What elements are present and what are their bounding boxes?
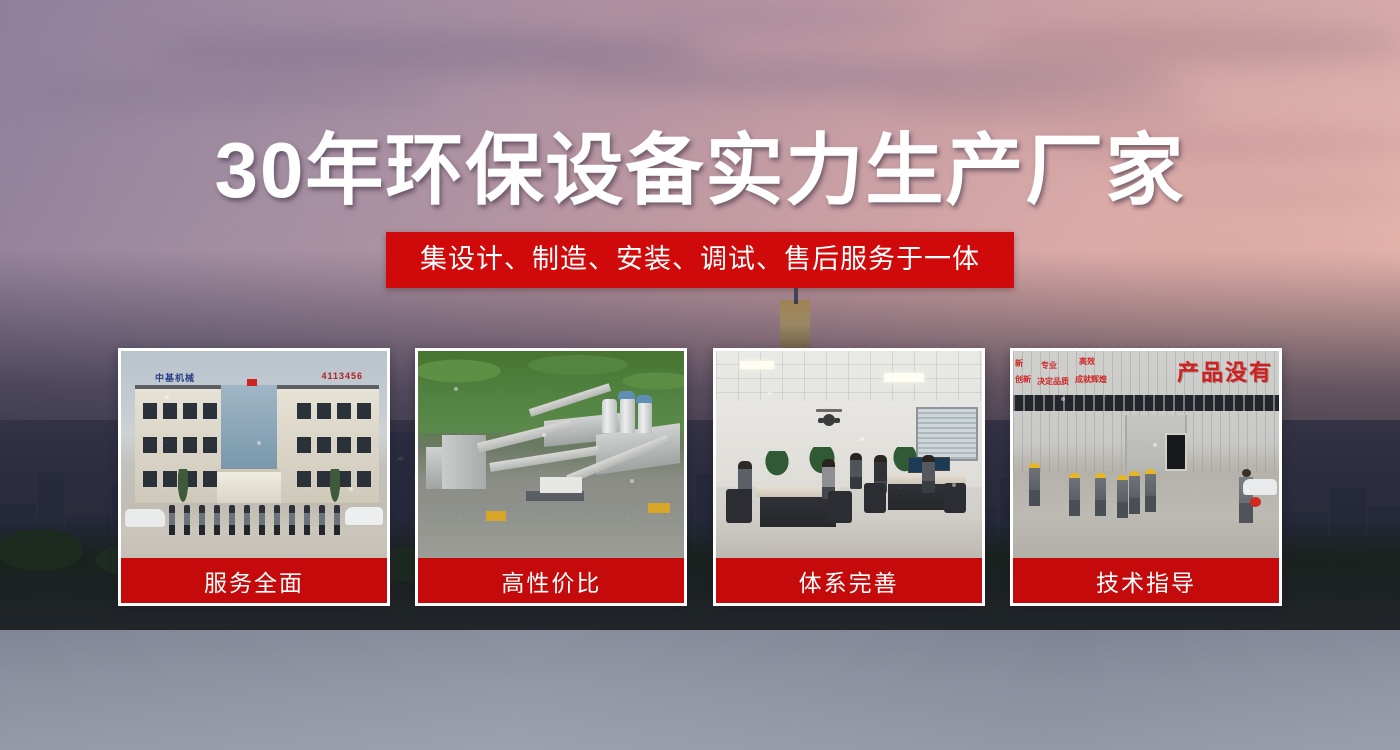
card-photo-office-building: 中基机械 4113456	[121, 351, 387, 558]
card-photo-aerial-plant	[418, 351, 684, 558]
factory-banner-text: 产品没有	[1177, 355, 1273, 387]
page-title: 30年环保设备实力生产厂家	[0, 126, 1400, 214]
feature-card-value[interactable]: 高性价比	[415, 348, 687, 606]
card-photo-workers: 产品没有 新 创新 专业 决定品质 高效 成就辉煌	[1013, 351, 1279, 558]
card-caption-service: 服务全面	[121, 558, 387, 603]
card-photo-office-interior	[716, 351, 982, 558]
promo-banner: 30年环保设备实力生产厂家 集设计、制造、安装、调试、售后服务于一体	[0, 0, 1400, 750]
wall-decal-icon	[812, 407, 846, 433]
feature-card-list: 中基机械 4113456	[118, 348, 1282, 606]
building-phone-number: 4113456	[321, 371, 363, 381]
subtitle-banner-wrap: 集设计、制造、安装、调试、售后服务于一体	[0, 232, 1400, 288]
feature-card-guidance[interactable]: 产品没有 新 创新 专业 决定品质 高效 成就辉煌	[1010, 348, 1282, 606]
feature-card-service[interactable]: 中基机械 4113456	[118, 348, 390, 606]
building-signage: 中基机械	[155, 371, 195, 384]
card-caption-value: 高性价比	[418, 558, 684, 603]
feature-card-system[interactable]: 体系完善	[713, 348, 985, 606]
card-caption-guidance: 技术指导	[1013, 558, 1279, 603]
card-caption-system: 体系完善	[716, 558, 982, 603]
subtitle-banner: 集设计、制造、安装、调试、售后服务于一体	[386, 232, 1014, 288]
